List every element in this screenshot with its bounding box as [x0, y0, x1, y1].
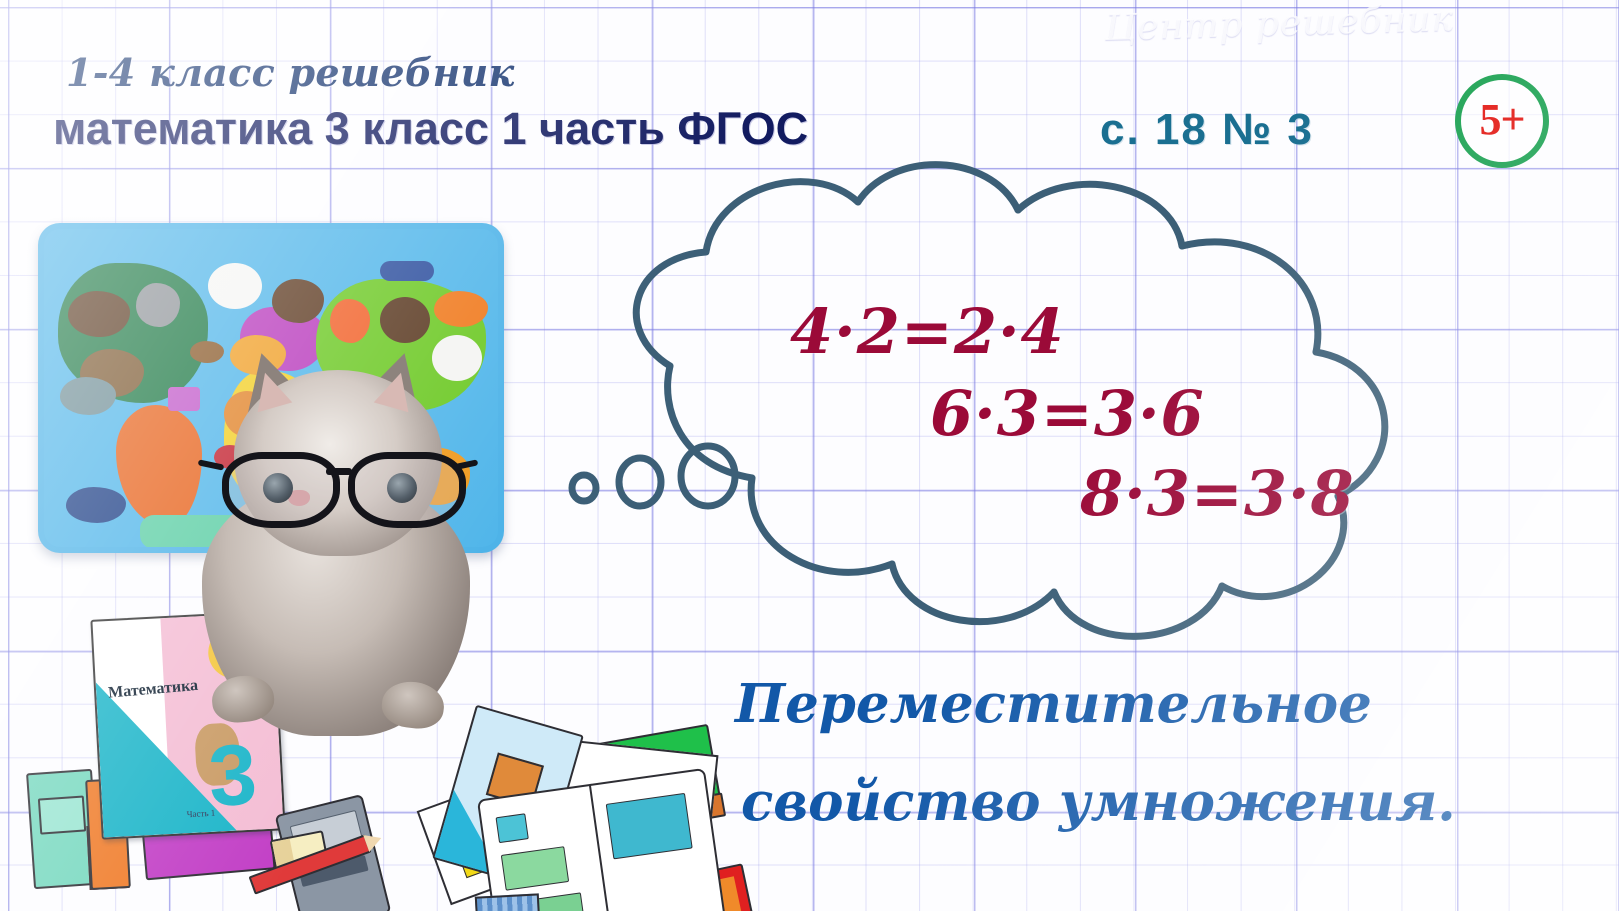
equation-2: 6·3=3·6: [930, 377, 1205, 450]
animal-tiger: [434, 291, 488, 327]
cat-with-glasses: [196, 350, 476, 730]
pencil-pack: [475, 893, 545, 911]
cat-eye-left: [263, 473, 293, 503]
glasses-temple-left: [198, 459, 225, 470]
landmass-south-america: [116, 405, 202, 527]
slide-canvas: Центр решебник: [0, 0, 1619, 911]
book-label: [38, 795, 86, 834]
textbook-grade: 3: [207, 741, 258, 812]
eyeglasses-icon: [218, 446, 458, 520]
caption-line-2: свойство умножения.: [735, 753, 1525, 851]
age-rating-badge: 5+: [1455, 74, 1549, 168]
page-block: [495, 813, 528, 843]
animal-shark: [60, 377, 116, 415]
animal-fox: [330, 299, 370, 343]
glasses-bridge: [326, 468, 352, 475]
glasses-lens-left: [222, 452, 340, 528]
lesson-caption: Переместительное свойство умножения.: [735, 655, 1525, 851]
page-title: математика 3 класс 1 часть ФГОС: [53, 103, 808, 155]
cat-eye-right: [387, 473, 417, 503]
animal-polar-bear: [208, 263, 262, 309]
animal-whale: [66, 487, 126, 523]
page-reference: с. 18 № 3: [1100, 105, 1314, 155]
animal-moose: [272, 279, 324, 323]
animal-raccoon: [136, 283, 180, 327]
page-block: [606, 793, 693, 860]
page-block: [501, 846, 569, 891]
textbook-part: Часть 1: [186, 808, 215, 819]
equations-group: 4·2=2·4 6·3=3·6 8·3=3·8: [770, 295, 1530, 535]
equation-3: 8·3=3·8: [1080, 457, 1355, 530]
animal-bear: [380, 297, 430, 343]
glasses-lens-right: [348, 452, 466, 528]
animal-bison: [68, 291, 130, 337]
equation-1: 4·2=2·4: [790, 295, 1065, 368]
icon-submarine: [380, 261, 434, 281]
caption-line-1: Переместительное: [735, 673, 1372, 735]
subtitle-grade-range: 1-4 класс решебник: [66, 50, 515, 95]
age-rating-label: 5+: [1479, 98, 1524, 142]
